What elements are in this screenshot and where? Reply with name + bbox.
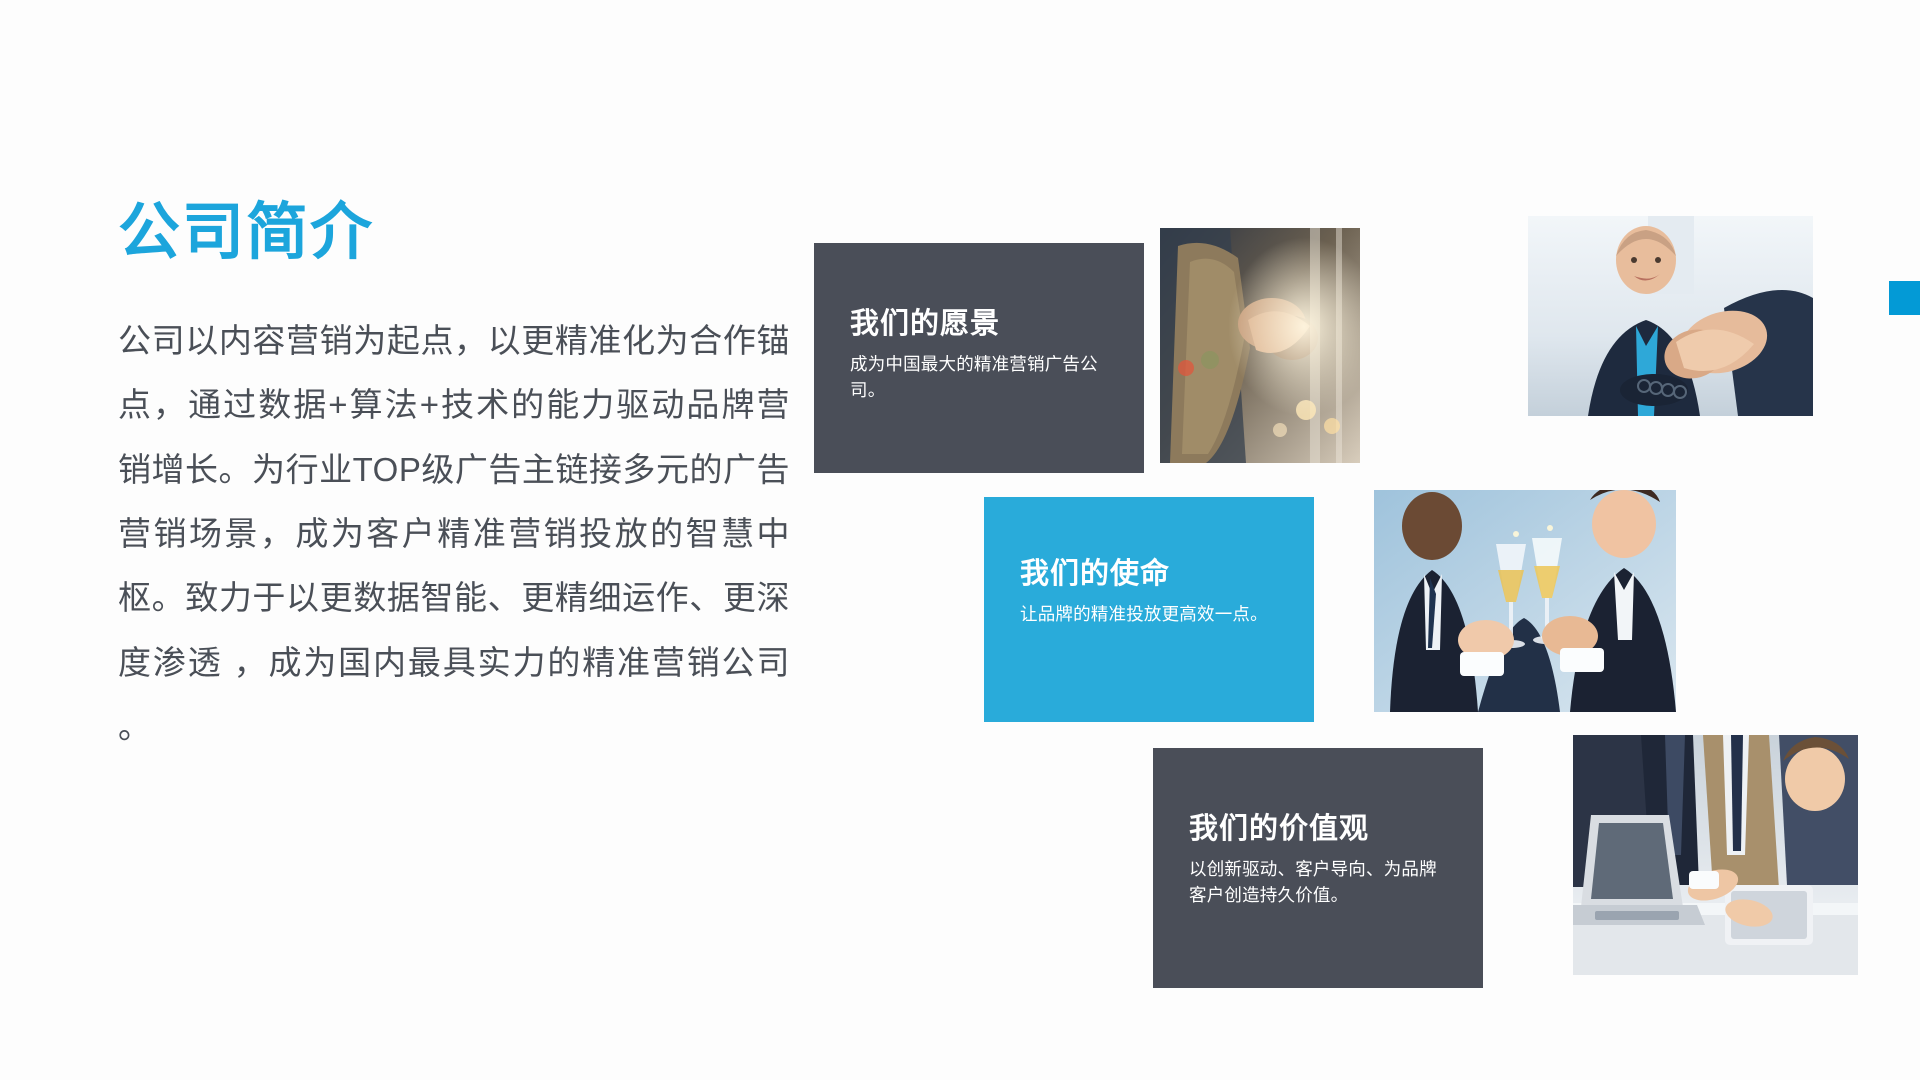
page-title: 公司简介 [118, 200, 798, 265]
card-vision-title: 我们的愿景 [850, 309, 1100, 341]
card-values-description: 以创新驱动、客户导向、为品牌客户创造持久价值。 [1189, 856, 1439, 909]
card-mission-title: 我们的使命 [1020, 559, 1268, 591]
photo-handshake-suits [1528, 216, 1813, 416]
card-values[interactable]: 我们的价值观 以创新驱动、客户导向、为品牌客户创造持久价值。 [1153, 748, 1483, 988]
team-laptop-image [1573, 735, 1858, 975]
card-values-content: 我们的价值观 以创新驱动、客户导向、为品牌客户创造持久价值。 [1189, 814, 1439, 908]
photo-handshake-street [1160, 228, 1360, 463]
card-vision-content: 我们的愿景 成为中国最大的精准营销广告公司。 [850, 309, 1100, 403]
card-mission[interactable]: 我们的使命 让品牌的精准投放更高效一点。 [984, 497, 1314, 722]
card-values-title: 我们的价值观 [1189, 814, 1439, 846]
accent-square-decoration [1889, 281, 1920, 315]
card-mission-content: 我们的使命 让品牌的精准投放更高效一点。 [1020, 559, 1268, 627]
photo-toast [1374, 490, 1676, 712]
card-mission-description: 让品牌的精准投放更高效一点。 [1020, 601, 1268, 627]
intro-text-block: 公司简介 公司以内容营销为起点，以更精准化为合作锚点，通过数据+算法+技术的能力… [118, 200, 798, 760]
toast-celebration-image [1374, 490, 1676, 712]
handshake-street-image [1160, 228, 1360, 463]
card-vision[interactable]: 我们的愿景 成为中国最大的精准营销广告公司。 [814, 243, 1144, 473]
photo-laptop [1573, 735, 1858, 975]
company-description-paragraph: 公司以内容营销为起点，以更精准化为合作锚点，通过数据+算法+技术的能力驱动品牌营… [118, 309, 790, 759]
slide-canvas: 公司简介 公司以内容营销为起点，以更精准化为合作锚点，通过数据+算法+技术的能力… [0, 0, 1920, 1080]
handshake-suits-image [1528, 216, 1813, 416]
card-vision-description: 成为中国最大的精准营销广告公司。 [850, 351, 1100, 404]
